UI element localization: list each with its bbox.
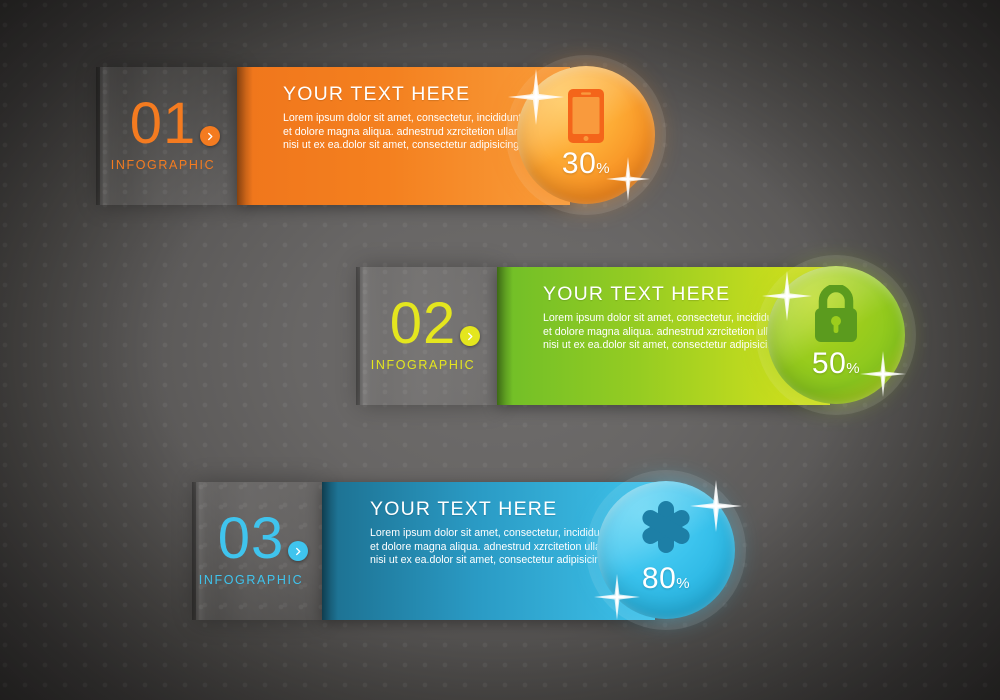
percent-sign: % [596, 160, 610, 177]
percent-value: 30 [562, 147, 596, 180]
row-number: 01 [108, 95, 218, 153]
padlock-icon [767, 285, 905, 343]
chevron-right-glyph [466, 332, 475, 341]
row-number-label: INFOGRAPHIC [196, 573, 306, 587]
chevron-right-icon[interactable] [200, 126, 220, 146]
infographic-row-1[interactable]: 01 INFOGRAPHIC YOUR TEXT HERE Lorem ipsu… [0, 67, 1000, 205]
infographic-row-3[interactable]: 03 INFOGRAPHIC YOUR TEXT HERE Lorem ipsu… [0, 482, 1000, 620]
row-number: 03 [196, 510, 306, 568]
row-number: 02 [368, 295, 478, 353]
row-number-label: INFOGRAPHIC [368, 358, 478, 372]
row-number-label: INFOGRAPHIC [108, 158, 218, 172]
circle-percent: 30% [517, 147, 655, 181]
chevron-right-glyph [294, 547, 303, 556]
chevron-right-icon[interactable] [460, 326, 480, 346]
infographic-canvas: 01 INFOGRAPHIC YOUR TEXT HERE Lorem ipsu… [0, 0, 1000, 700]
chevron-right-glyph [206, 132, 215, 141]
asterisk-flower-glyph [637, 498, 695, 556]
percent-value: 50 [812, 347, 846, 380]
padlock-glyph [811, 285, 861, 343]
percent-sign: % [676, 575, 690, 592]
smartphone-icon [517, 88, 655, 144]
percent-value: 80 [642, 562, 676, 595]
chevron-right-icon[interactable] [288, 541, 308, 561]
asterisk-flower-icon [597, 498, 735, 556]
circle-percent: 50% [767, 347, 905, 381]
circle-percent: 80% [597, 562, 735, 596]
percent-sign: % [846, 360, 860, 377]
smartphone-glyph [567, 88, 605, 144]
infographic-row-2[interactable]: 02 INFOGRAPHIC YOUR TEXT HERE Lorem ipsu… [0, 267, 1000, 405]
